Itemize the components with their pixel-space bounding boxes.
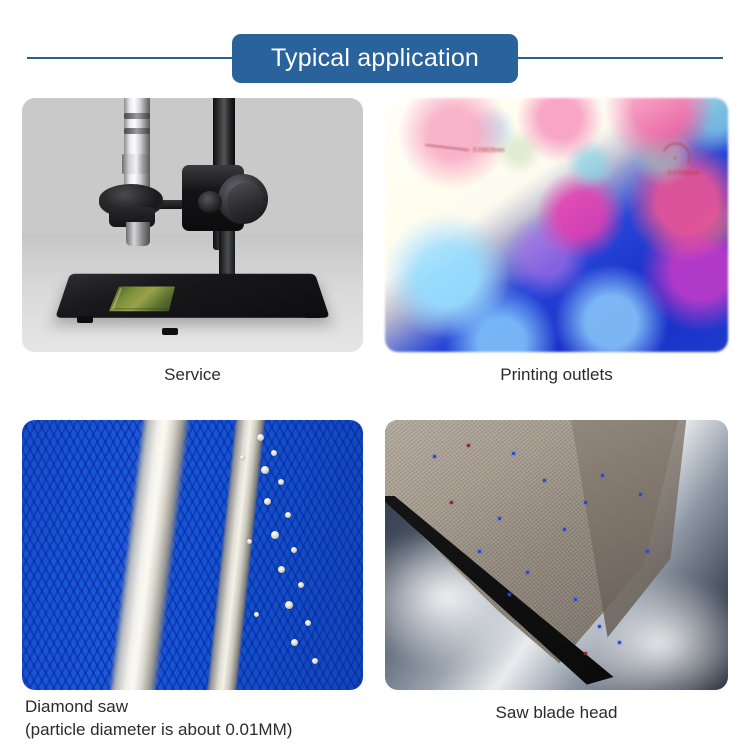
abrasive-sparkle [646, 550, 649, 553]
circuit-board-sample [109, 286, 175, 311]
tube-midsection [122, 154, 150, 174]
measure-label-2: 0.07025mm [668, 171, 700, 177]
focus-knob-face [227, 183, 261, 221]
stand-base-plate [55, 274, 330, 318]
printing-outlets-photo: 0.03929mm 0.07025mm [385, 98, 728, 352]
diamond-particle [264, 498, 271, 505]
abrasive-sparkle [526, 571, 529, 574]
abrasive-sparkle [450, 501, 453, 504]
gallery-item-service[interactable]: Service [22, 98, 363, 387]
photo-haze-overlay [385, 98, 728, 352]
base-foot-front [162, 328, 178, 335]
abrasive-sparkle [574, 598, 577, 601]
diamond-particle [298, 582, 304, 588]
diamond-particle [285, 601, 293, 609]
objective-lens [126, 222, 150, 246]
abrasive-sparkle [433, 455, 436, 458]
diamond-particle [271, 450, 277, 456]
saw-blade-head-photo [385, 420, 728, 690]
diamond-particle [257, 434, 264, 441]
base-foot-left [77, 316, 93, 323]
diamond-particle [278, 566, 285, 573]
service-photo [22, 98, 363, 352]
saw-wire-primary [107, 420, 191, 690]
lock-knob [198, 191, 222, 213]
abrasive-sparkle [601, 474, 604, 477]
diamond-particle [278, 479, 284, 485]
gallery-item-diamond-saw[interactable]: Diamond saw (particle diameter is about … [22, 420, 363, 741]
measure-label-1: 0.03929mm [473, 148, 505, 154]
tube-ring-upper [124, 113, 150, 119]
abrasive-sparkle [478, 550, 481, 553]
diamond-particle [254, 612, 259, 617]
diamond-particle [271, 531, 279, 539]
saw-wire-secondary [204, 420, 267, 690]
abrasive-sparkle [584, 652, 587, 655]
caption-service: Service [22, 352, 363, 387]
diamond-particle [312, 658, 318, 664]
abrasive-sparkle [543, 479, 546, 482]
caption-saw-blade-head: Saw blade head [385, 690, 728, 725]
diamond-particle [285, 512, 291, 518]
gallery-item-printing-outlets[interactable]: 0.03929mm 0.07025mm Printing outlets [385, 98, 728, 387]
diamond-particle [291, 639, 298, 646]
measure-center-dot-2 [674, 157, 676, 159]
gallery-item-saw-blade-head[interactable]: Saw blade head [385, 420, 728, 725]
diamond-particle [291, 547, 297, 553]
abrasive-sparkle [584, 501, 587, 504]
caption-printing-outlets: Printing outlets [385, 352, 728, 387]
caption-diamond-saw: Diamond saw (particle diameter is about … [22, 690, 363, 741]
diamond-particle [247, 539, 252, 544]
diamond-particle [261, 466, 269, 474]
base-foot-right [305, 311, 321, 318]
abrasive-sparkle [598, 625, 601, 628]
diamond-saw-photo [22, 420, 363, 690]
abrasive-sparkle [639, 493, 642, 496]
diamond-particle [305, 620, 311, 626]
application-gallery: Service 0.03929mm 0.07025mm Printing out… [0, 0, 750, 750]
tube-ring-lower [124, 128, 150, 134]
